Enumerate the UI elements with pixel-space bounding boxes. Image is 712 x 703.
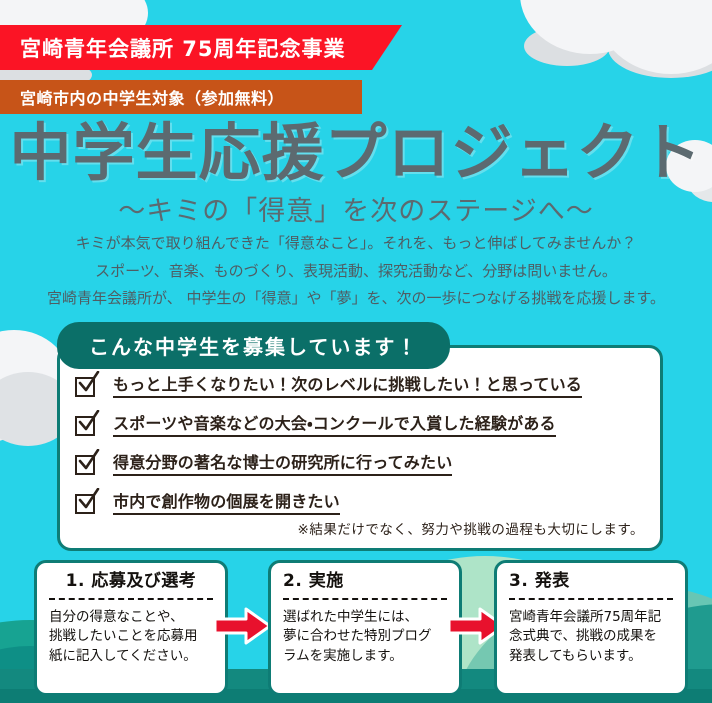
- poster-root: 宮崎青年会議所 75周年記念事業 宮崎市内の中学生対象（参加無料） 中学生応援プ…: [0, 0, 712, 703]
- step-body-line: ラムを実施します。: [283, 647, 447, 667]
- step-body-line: 夢に合わせた特別プログ: [283, 627, 447, 647]
- step-title: 1. 応募及び選考: [49, 572, 213, 591]
- step-divider: [283, 598, 447, 600]
- cloud-icon-mid-left-shade: [0, 386, 26, 444]
- step-body-line: 自分の得意なことや、: [49, 608, 213, 628]
- title-block: 中学生応援プロジェクト 〜キミの「得意」を次のステージへ〜: [0, 120, 712, 228]
- recruit-card: もっと上手くなりたい！次のレベルに挑戦したい！と思っている スポーツや音楽などの…: [57, 345, 663, 551]
- step-body-line: 紙に記入してください。: [49, 647, 213, 667]
- step-title: 2. 実施: [283, 572, 447, 591]
- lead-paragraph: キミが本気で取り組んできた「得意なこと」。それを、もっと伸ばしてみませんか？ ス…: [0, 232, 712, 315]
- step-divider: [49, 598, 213, 600]
- cloud-icon-top-right-shade2: [524, 26, 610, 66]
- page-title: 中学生応援プロジェクト: [0, 120, 712, 185]
- page-subtitle: 〜キミの「得意」を次のステージへ〜: [0, 189, 712, 228]
- banner-anniversary: 宮崎青年会議所 75周年記念事業: [0, 25, 402, 70]
- step-divider: [509, 598, 673, 600]
- step-body: 選ばれた中学生には、 夢に合わせた特別プログ ラムを実施します。: [283, 608, 447, 667]
- banner-eligibility: 宮崎市内の中学生対象（参加無料）: [0, 80, 362, 114]
- step-card-1: 1. 応募及び選考 自分の得意なことや、 挑戦したいことを応募用 紙に記入してく…: [34, 560, 228, 696]
- checkbox-checked-icon: [74, 374, 99, 399]
- step-title: 3. 発表: [509, 572, 673, 591]
- list-item-label: 市内で創作物の個展を開きたい: [113, 492, 340, 515]
- list-item: 得意分野の著名な博士の研究所に行ってみたい: [74, 452, 648, 477]
- list-item: 市内で創作物の個展を開きたい: [74, 491, 648, 516]
- cloud-icon-top-right-a: [596, 0, 712, 74]
- lead-line: スポーツ、音楽、ものづくり、表現活動、探究活動など、分野は問いません。: [0, 260, 712, 283]
- list-item-label: スポーツや音楽などの大会・コンクールで入賞した経験がある: [113, 414, 556, 437]
- step-card-2: 2. 実施 選ばれた中学生には、 夢に合わせた特別プログ ラムを実施します。: [268, 560, 462, 696]
- step-body: 自分の得意なことや、 挑戦したいことを応募用 紙に記入してください。: [49, 608, 213, 667]
- step-body-line: 挑戦したいことを応募用: [49, 627, 213, 647]
- step-body: 宮崎青年会議所75周年記 念式典で、挑戦の成果を 発表してもらいます。: [509, 608, 673, 667]
- list-item-label: 得意分野の著名な博士の研究所に行ってみたい: [113, 453, 452, 476]
- checkbox-checked-icon: [74, 452, 99, 477]
- banner-eligibility-label: 宮崎市内の中学生対象（参加無料）: [20, 85, 284, 109]
- recruit-card-heading: こんな中学生を募集しています！: [57, 322, 450, 369]
- arrow-right-icon: [213, 606, 273, 646]
- step-card-3: 3. 発表 宮崎青年会議所75周年記 念式典で、挑戦の成果を 発表してもらいます…: [494, 560, 688, 696]
- banner-anniversary-label: 宮崎青年会議所 75周年記念事業: [20, 33, 346, 63]
- step-body-line: 宮崎青年会議所75周年記: [509, 608, 673, 628]
- lead-line: 宮崎青年会議所が、 中学生の「得意」や「夢」を、次の一歩につなげる挑戦を応援しま…: [0, 287, 712, 310]
- lead-line: キミが本気で取り組んできた「得意なこと」。それを、もっと伸ばしてみませんか？: [0, 232, 712, 255]
- step-body-line: 発表してもらいます。: [509, 647, 673, 667]
- list-item: スポーツや音楽などの大会・コンクールで入賞した経験がある: [74, 413, 648, 438]
- list-item-label: もっと上手くなりたい！次のレベルに挑戦したい！と思っている: [113, 375, 582, 398]
- cloud-icon-top-right-shade: [608, 18, 712, 78]
- step-body-line: 選ばれた中学生には、: [283, 608, 447, 628]
- checkbox-checked-icon: [74, 413, 99, 438]
- cloud-icon-top-right-b: [520, 0, 660, 54]
- process-steps: 1. 応募及び選考 自分の得意なことや、 挑戦したいことを応募用 紙に記入してく…: [0, 560, 712, 703]
- step-body-line: 念式典で、挑戦の成果を: [509, 627, 673, 647]
- list-item: もっと上手くなりたい！次のレベルに挑戦したい！と思っている: [74, 374, 648, 399]
- recruit-check-list: もっと上手くなりたい！次のレベルに挑戦したい！と思っている スポーツや音楽などの…: [74, 374, 648, 530]
- checkbox-checked-icon: [74, 491, 99, 516]
- recruit-card-note: ※結果だけでなく、努力や挑戦の過程も大切にします。: [298, 518, 644, 538]
